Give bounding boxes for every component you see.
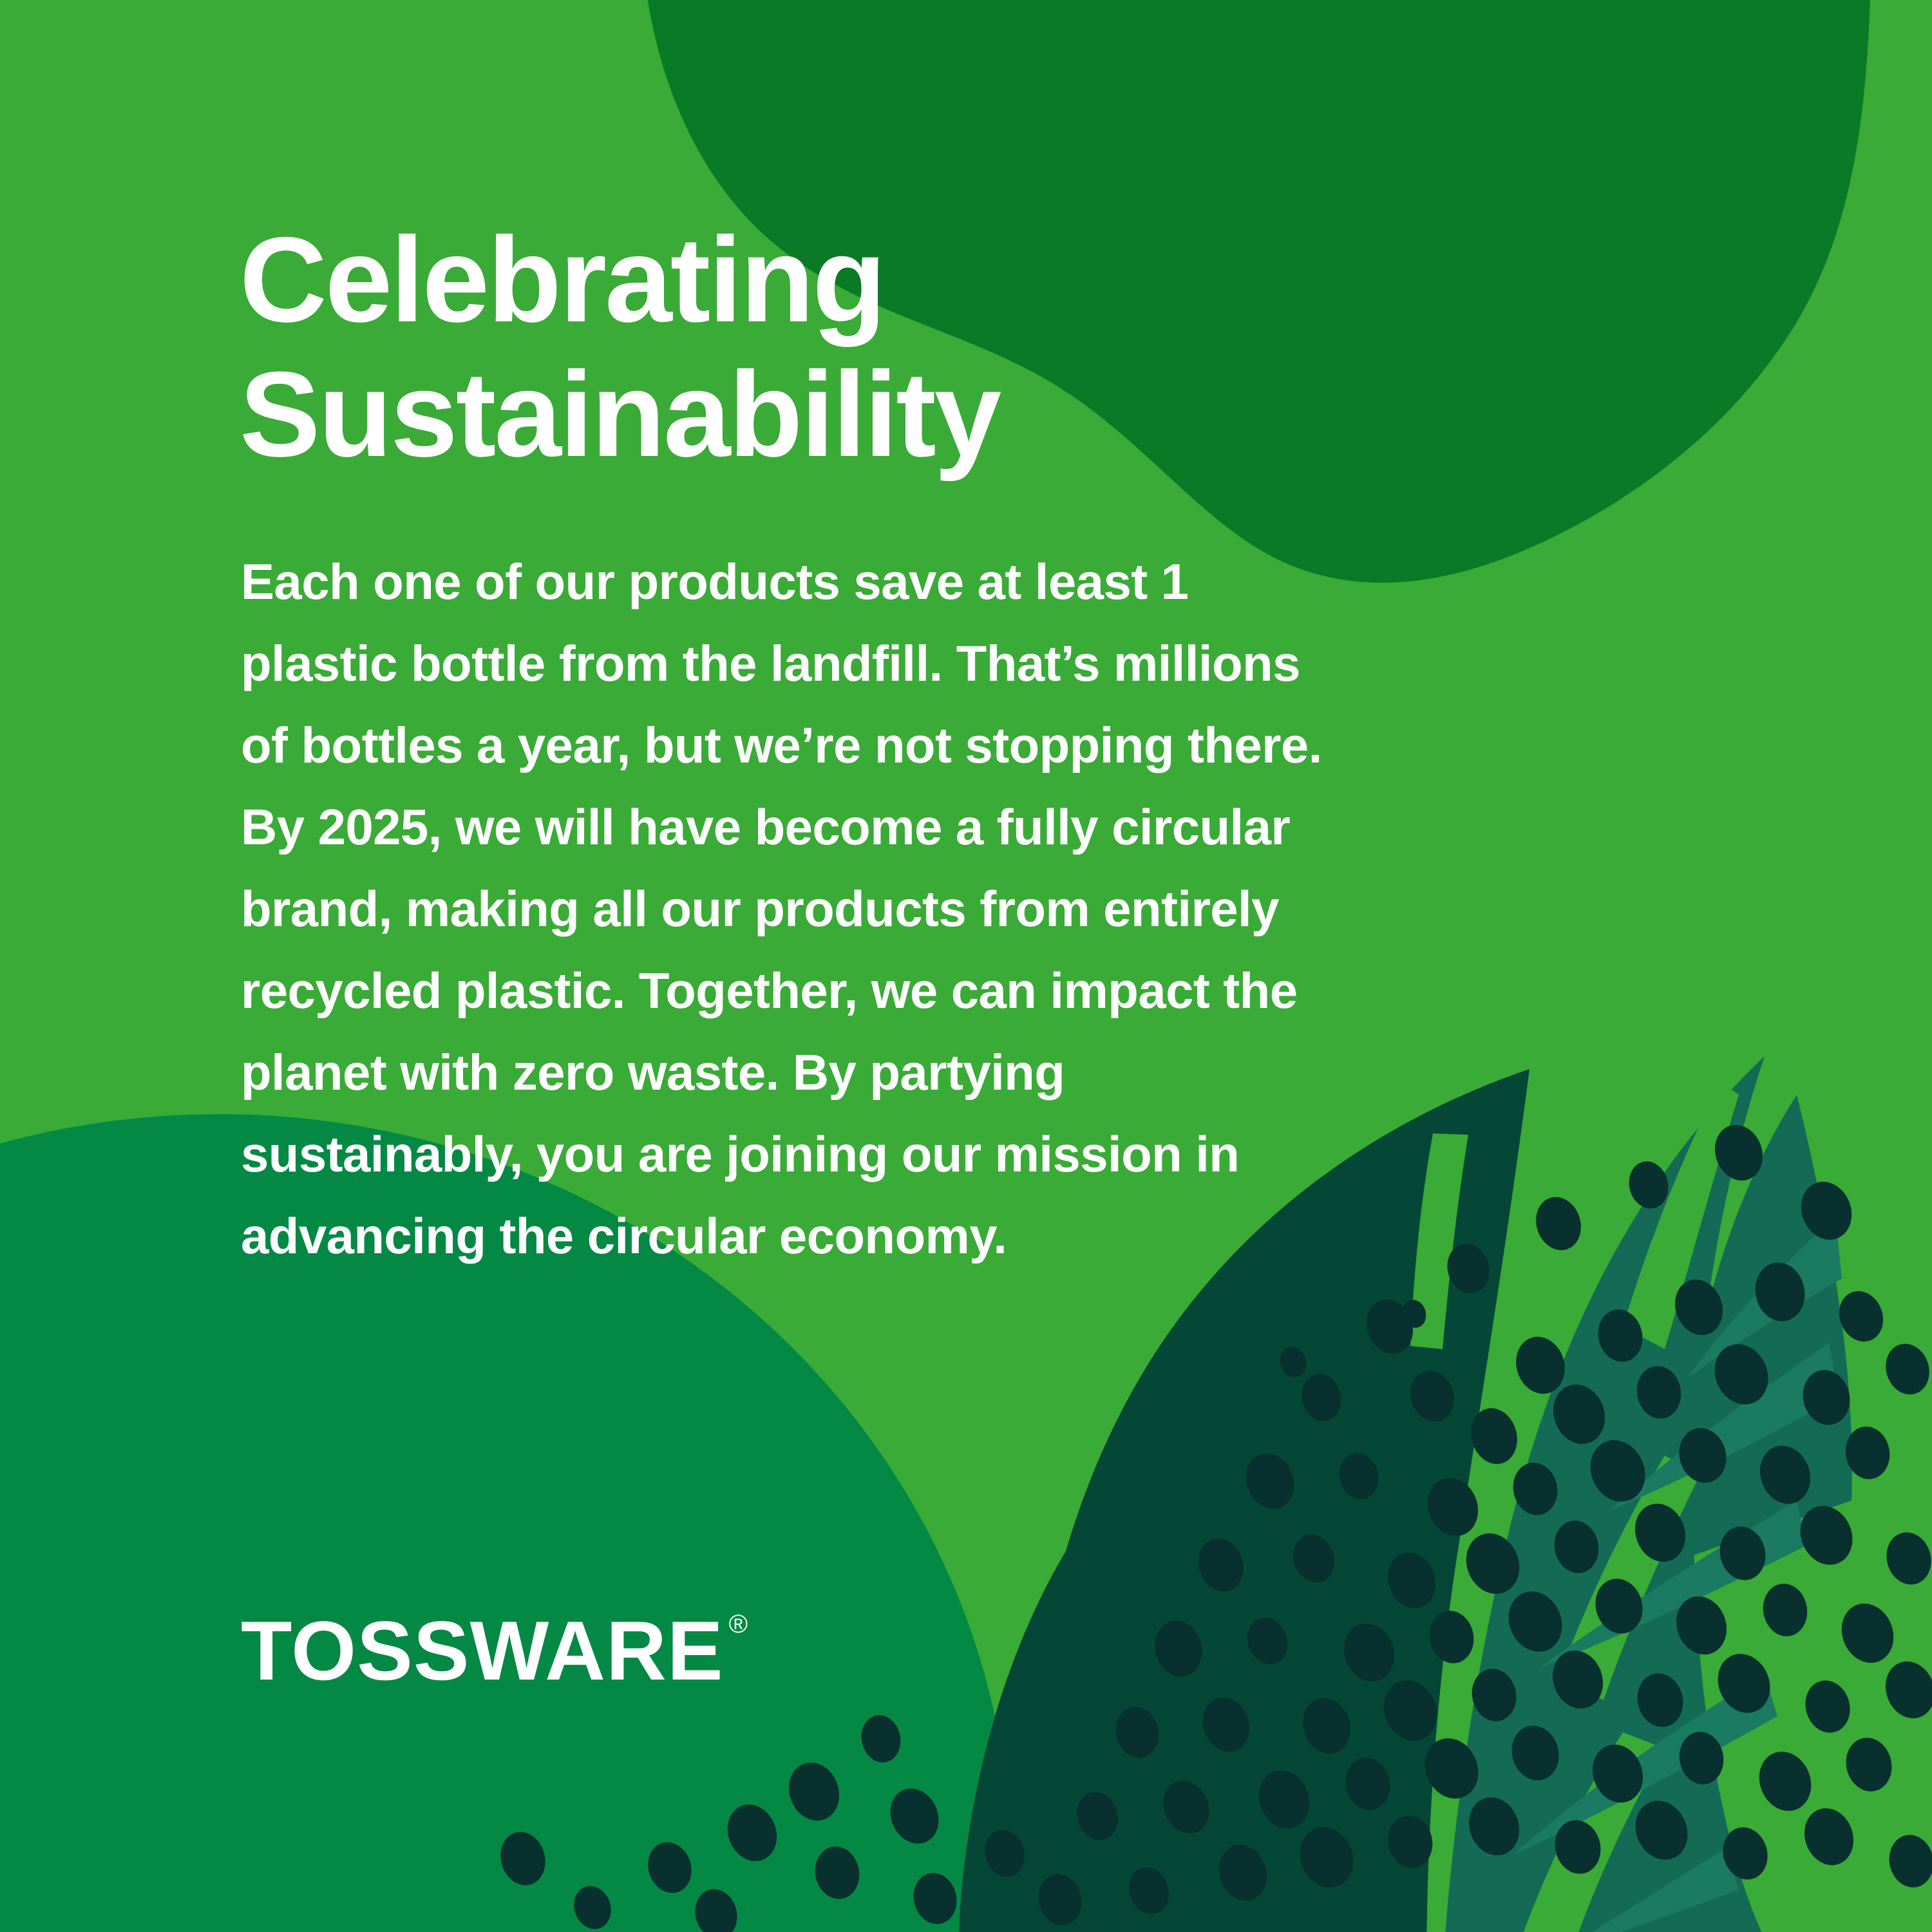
poster-canvas: Celebrating Sustainability Each one of o…	[0, 0, 1932, 1932]
poster-content: Celebrating Sustainability Each one of o…	[0, 0, 1932, 1932]
page-title: Celebrating Sustainability	[240, 213, 1334, 481]
registered-trademark-icon: ®	[729, 1611, 748, 1637]
logo-wordmark: TOSSWARE	[241, 1609, 724, 1692]
body-paragraph: Each one of our products save at least 1…	[241, 541, 1349, 1277]
brand-logo: TOSSWARE ®	[241, 1609, 748, 1692]
